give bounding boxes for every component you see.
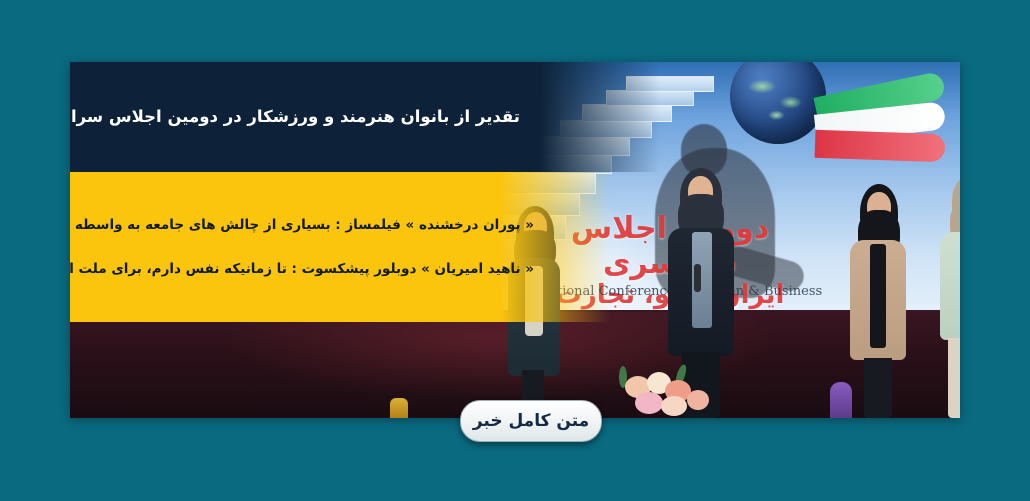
headline-band-fade	[540, 62, 660, 172]
page-root: دومین اجلاس سراسری ایران، بانو، تجارت Na…	[0, 0, 1030, 501]
headline-text: تقدیر از بانوان هنرمند و ورزشکار در دومی…	[70, 105, 528, 128]
trophy-graphic	[390, 398, 408, 418]
quote-item: « ناهید امیریان » دوبلور پیشکسوت : تا زم…	[70, 260, 534, 278]
quote-item: « پوران درخشنده » فیلمساز : بسیاری از چا…	[70, 216, 534, 234]
full-story-button[interactable]: متن کامل خبر	[460, 400, 602, 442]
page-title: تقدیر از بانوان هنرمند و ورزشکار در دومی…	[70, 62, 540, 172]
quotes-list: « پوران درخشنده » فیلمساز : بسیاری از چا…	[70, 172, 540, 322]
iran-flag-ribbon	[815, 80, 945, 172]
full-story-button-label: متن کامل خبر	[473, 411, 589, 431]
flower-bouquet	[605, 362, 725, 418]
microphone-icon	[694, 264, 701, 292]
person-figure	[932, 174, 960, 418]
news-banner-panel: دومین اجلاس سراسری ایران، بانو، تجارت Na…	[70, 62, 960, 418]
trophy-graphic	[830, 382, 852, 418]
person-figure	[842, 182, 914, 418]
